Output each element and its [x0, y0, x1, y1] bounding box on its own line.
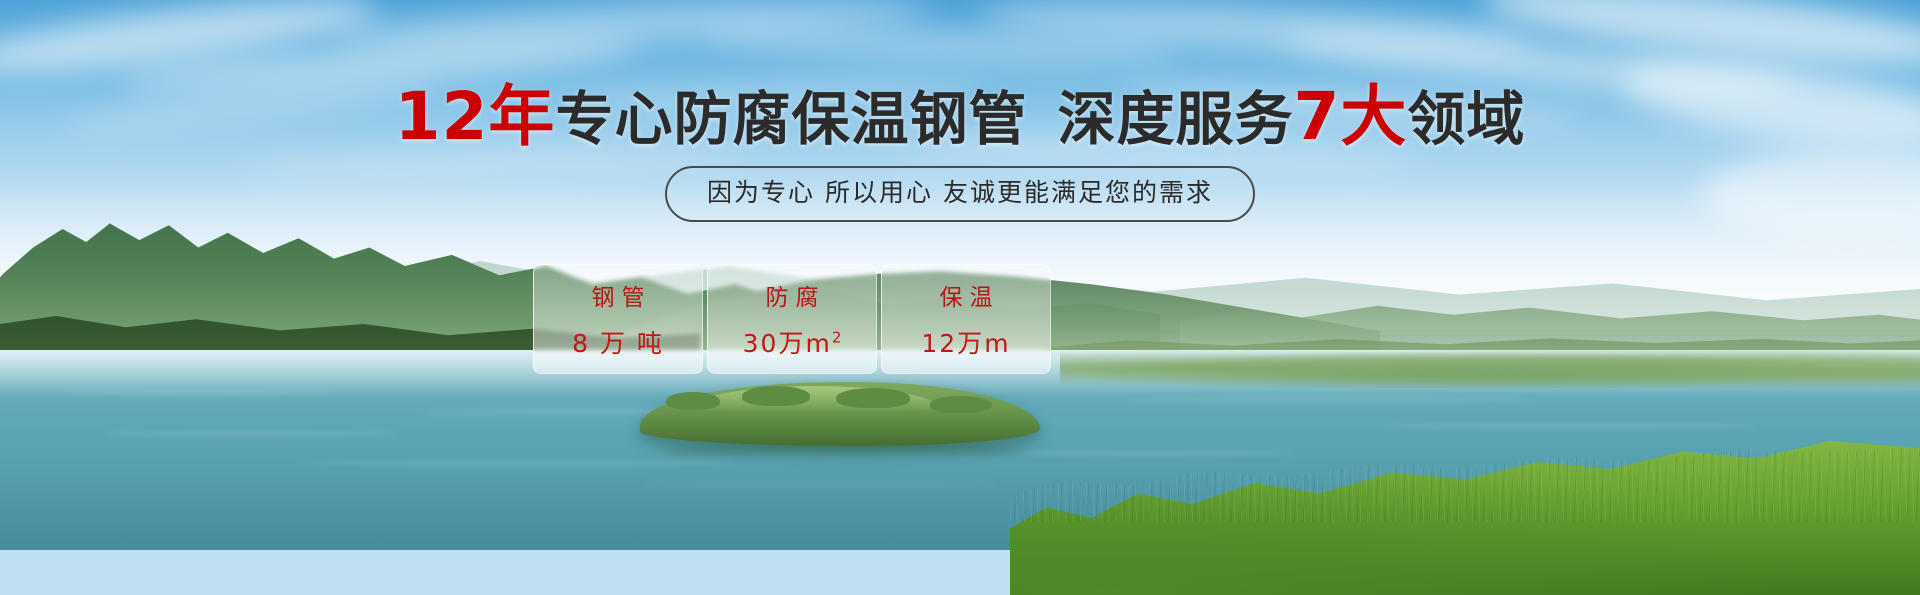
- water-ripple: [1000, 452, 1300, 455]
- island-grass-tuft: [836, 388, 910, 408]
- headline-seven-red: 7大: [1293, 78, 1407, 155]
- water-ripple: [640, 482, 1000, 485]
- water-ripple: [300, 462, 740, 465]
- stat-card-anticorrosion[interactable]: 防腐 30万m2: [707, 264, 877, 374]
- stat-value-superscript: 2: [832, 329, 842, 347]
- stat-card-title: 防腐: [759, 278, 826, 312]
- water-ripple: [100, 432, 400, 435]
- banner-headline: 12年专心防腐保温钢管深度服务7大领域: [0, 86, 1920, 150]
- stat-value-text: 8 万 吨: [572, 329, 664, 358]
- headline-service-dark: 深度服务: [1057, 85, 1293, 153]
- banner-subtitle-wrapper: 因为专心 所以用心 友诚更能满足您的需求: [0, 166, 1920, 222]
- stat-card-value: 30万m2: [743, 324, 842, 360]
- stat-card-title: 钢管: [585, 278, 652, 312]
- headline-years-red: 12年: [395, 78, 556, 155]
- headline-main-dark: 专心防腐保温钢管: [555, 85, 1027, 153]
- island-grass-tuft: [666, 392, 720, 410]
- stat-value-text: 12万m: [921, 329, 1010, 358]
- stat-card-value: 12万m: [921, 324, 1010, 360]
- water-ripple: [60, 392, 340, 395]
- hero-banner: 12年专心防腐保温钢管深度服务7大领域 因为专心 所以用心 友诚更能满足您的需求…: [0, 0, 1920, 595]
- stat-card-insulation[interactable]: 保温 12万m: [881, 264, 1051, 374]
- marsh-vegetation: [1060, 348, 1920, 388]
- banner-subtitle-pill: 因为专心 所以用心 友诚更能满足您的需求: [665, 166, 1255, 222]
- stat-card-value: 8 万 吨: [572, 324, 664, 360]
- island-grass-tuft: [930, 396, 992, 413]
- stat-card-title: 保温: [933, 278, 1000, 312]
- stat-card-steel-pipe[interactable]: 钢管 8 万 吨: [533, 264, 703, 374]
- headline-fields-dark: 领域: [1407, 85, 1525, 153]
- island-grass-tuft: [742, 386, 810, 406]
- stat-card-group: 钢管 8 万 吨 防腐 30万m2 保温 12万m: [533, 264, 1053, 374]
- stat-value-text: 30万m: [743, 329, 832, 358]
- water-ripple: [1380, 424, 1760, 427]
- water-ripple: [1120, 398, 1540, 401]
